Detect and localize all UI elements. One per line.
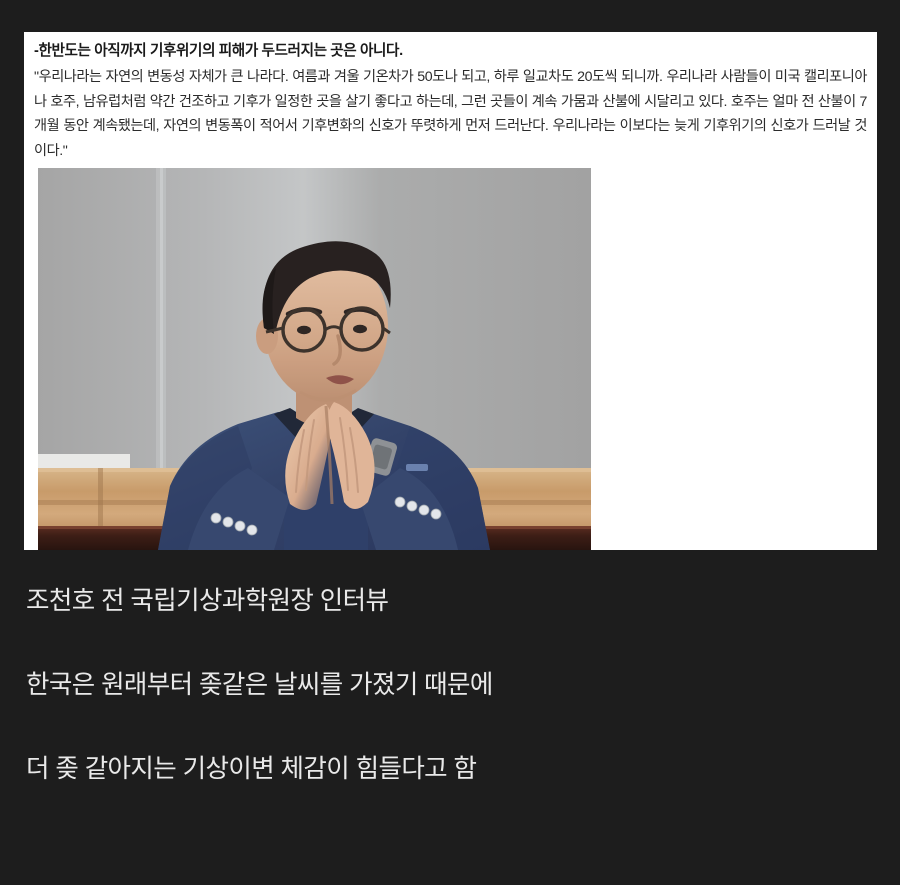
caption-line-2: 한국은 원래부터 좆같은 날씨를 가졌기 때문에: [26, 670, 900, 702]
article-heading: -한반도는 아직까지 기후위기의 피해가 두드러지는 곳은 아니다.: [34, 38, 867, 64]
interview-photo-image: [38, 168, 591, 550]
caption-line-1: 조천호 전 국립기상과학원장 인터뷰: [26, 586, 900, 618]
article-text-block: -한반도는 아직까지 기후위기의 피해가 두드러지는 곳은 아니다. "우리나라…: [24, 32, 877, 163]
caption-line-3: 더 좆 같아지는 기상이변 체감이 힘들다고 함: [26, 754, 900, 786]
caption-block: 조천호 전 국립기상과학원장 인터뷰 한국은 원래부터 좆같은 날씨를 가졌기 …: [0, 586, 900, 786]
article-quote-paragraph: "우리나라는 자연의 변동성 자체가 큰 나라다. 여름과 겨울 기온차가 50…: [34, 65, 867, 163]
interview-photo: [38, 168, 591, 550]
article-card: -한반도는 아직까지 기후위기의 피해가 두드러지는 곳은 아니다. "우리나라…: [24, 32, 877, 550]
